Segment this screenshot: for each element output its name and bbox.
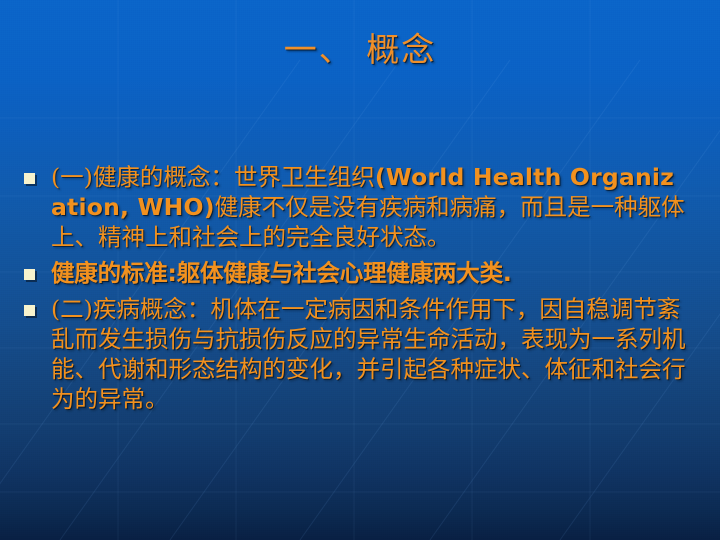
bullet-text-1: (一)健康的概念：世界卫生组织(World Health Organizatio… [51, 162, 686, 252]
list-item: 健康的标准:躯体健康与社会心理健康两大类. [18, 258, 686, 288]
list-item: (一)健康的概念：世界卫生组织(World Health Organizatio… [18, 162, 686, 252]
slide-title: 一、 概念 [0, 30, 720, 70]
bullet-text-2: 健康的标准:躯体健康与社会心理健康两大类. [51, 258, 686, 288]
square-bullet-icon [24, 305, 35, 316]
square-bullet-icon [24, 173, 35, 184]
presentation-slide: 一、 概念 (一)健康的概念：世界卫生组织(World Health Organ… [0, 0, 720, 540]
square-bullet-icon [24, 269, 35, 280]
slide-title-text: 一、 概念 [284, 30, 437, 70]
bullet-3-segment-1: (二)疾病概念：机体在一定病因和条件作用下，因自稳调节紊乱而发生损伤与抗损伤反应… [51, 295, 686, 413]
bullet-2-segment-1: 健康的标准:躯体健康与社会心理健康两大类. [51, 259, 512, 287]
list-item: (二)疾病概念：机体在一定病因和条件作用下，因自稳调节紊乱而发生损伤与抗损伤反应… [18, 294, 686, 414]
bullet-1-segment-1: (一)健康的概念：世界卫生组织 [51, 163, 375, 191]
slide-body: (一)健康的概念：世界卫生组织(World Health Organizatio… [18, 162, 686, 420]
bullet-text-3: (二)疾病概念：机体在一定病因和条件作用下，因自稳调节紊乱而发生损伤与抗损伤反应… [51, 294, 686, 414]
